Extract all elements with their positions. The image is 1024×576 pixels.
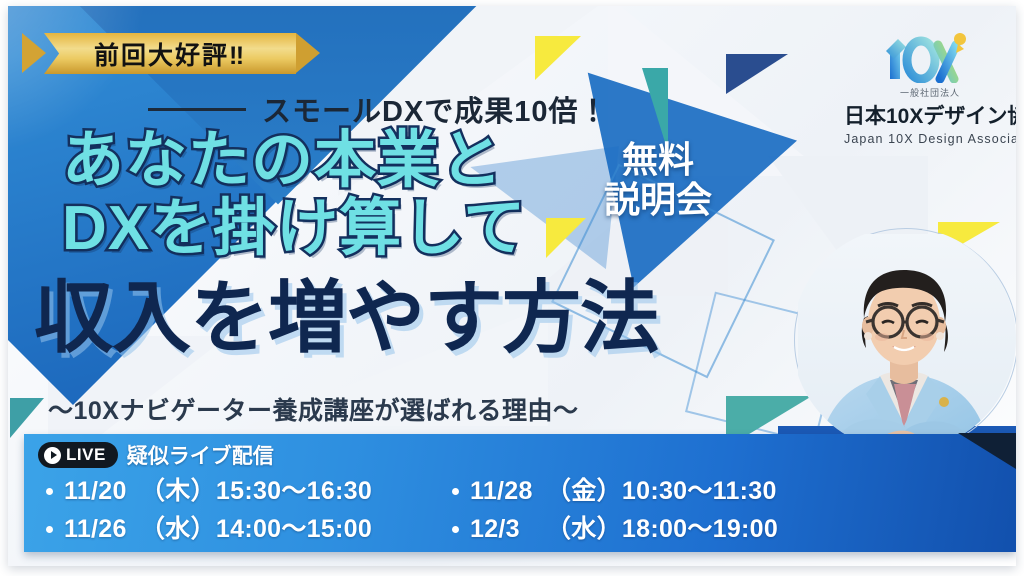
- schedule-weekday: （水）: [546, 512, 622, 548]
- schedule-date: 12/3: [470, 512, 546, 548]
- schedule-band: LIVE 疑似ライブ配信 11/20 （木） 15:30〜16:30 11/28…: [24, 434, 1016, 552]
- schedule-weekday: （木）: [140, 474, 216, 510]
- schedule-item: 11/20 （木） 15:30〜16:30: [46, 474, 452, 510]
- schedule-item: 11/26 （水） 14:00〜15:00: [46, 512, 452, 548]
- schedule-item: 11/28 （金） 10:30〜11:30: [452, 474, 1000, 510]
- schedule-header: LIVE 疑似ライブ配信: [38, 440, 274, 470]
- schedule-time: 14:00〜15:00: [216, 512, 372, 548]
- schedule-weekday: （金）: [546, 474, 622, 510]
- schedule-date: 11/28: [470, 474, 546, 510]
- schedule-time: 18:00〜19:00: [622, 512, 778, 548]
- schedule-item: 12/3 （水） 18:00〜19:00: [452, 512, 1000, 548]
- teal-triangle-icon: [10, 398, 44, 438]
- poster-panel: 前回大好評‼ スモールDXで成果10倍！ あなたの本業と DXを掛け算して 収入…: [8, 6, 1016, 566]
- play-icon: [44, 447, 61, 464]
- headline-cyan-line1: あなたの本業と: [62, 126, 503, 195]
- headline-cyan: あなたの本業と DXを掛け算して: [62, 130, 526, 260]
- schedule-corner-wedge: [958, 433, 1016, 469]
- bullet-icon: [452, 526, 459, 533]
- schedule-date: 11/20: [64, 474, 140, 510]
- bullet-icon: [46, 526, 53, 533]
- yellow-triangle-icon: [546, 218, 586, 258]
- ribbon-banner: 前回大好評‼: [44, 33, 296, 74]
- ribbon-right-tail: [296, 33, 320, 73]
- ribbon-left-tail: [22, 33, 46, 73]
- ten-x-logo-icon: [884, 29, 976, 83]
- logo-entity-type: 一般社団法人: [844, 86, 1016, 99]
- live-badge: LIVE: [38, 442, 118, 468]
- yellow-triangle-icon: [535, 36, 581, 80]
- schedule-list: 11/20 （木） 15:30〜16:30 11/28 （金） 10:30〜11…: [46, 474, 1000, 547]
- free-badge-line2: 説明会: [604, 180, 712, 220]
- free-badge-line1: 無料: [604, 140, 712, 180]
- poster-canvas: 前回大好評‼ スモールDXで成果10倍！ あなたの本業と DXを掛け算して 収入…: [0, 0, 1024, 576]
- headline-sub: 〜10Xナビゲーター養成講座が選ばれる理由〜: [48, 391, 578, 427]
- bullet-icon: [452, 488, 459, 495]
- free-seminar-badge: 無料 説明会: [604, 140, 712, 221]
- schedule-weekday: （水）: [140, 512, 216, 548]
- navy-triangle-icon: [726, 54, 788, 94]
- association-logo: 一般社団法人 日本10Xデザイン協会 Japan 10X Design Asso…: [844, 28, 1016, 146]
- logo-name-en: Japan 10X Design Association: [844, 132, 1016, 146]
- ribbon-label: 前回大好評‼: [94, 36, 246, 72]
- logo-name-ja: 日本10Xデザイン協会: [844, 100, 1016, 130]
- bullet-icon: [46, 488, 53, 495]
- schedule-kind-label: 疑似ライブ配信: [127, 440, 274, 470]
- kicker-label: スモールDXで成果10倍！: [262, 88, 609, 130]
- schedule-date: 11/26: [64, 512, 140, 548]
- logo-mark-icon: [844, 28, 1016, 84]
- kicker-line: スモールDXで成果10倍！: [148, 88, 609, 130]
- live-label: LIVE: [66, 445, 106, 465]
- headline-cyan-line2: DXを掛け算して: [62, 198, 526, 260]
- kicker-rule: [148, 108, 246, 111]
- headline-navy: 収入を増やす方法: [34, 278, 658, 357]
- schedule-time: 15:30〜16:30: [216, 474, 372, 510]
- schedule-time: 10:30〜11:30: [622, 474, 777, 510]
